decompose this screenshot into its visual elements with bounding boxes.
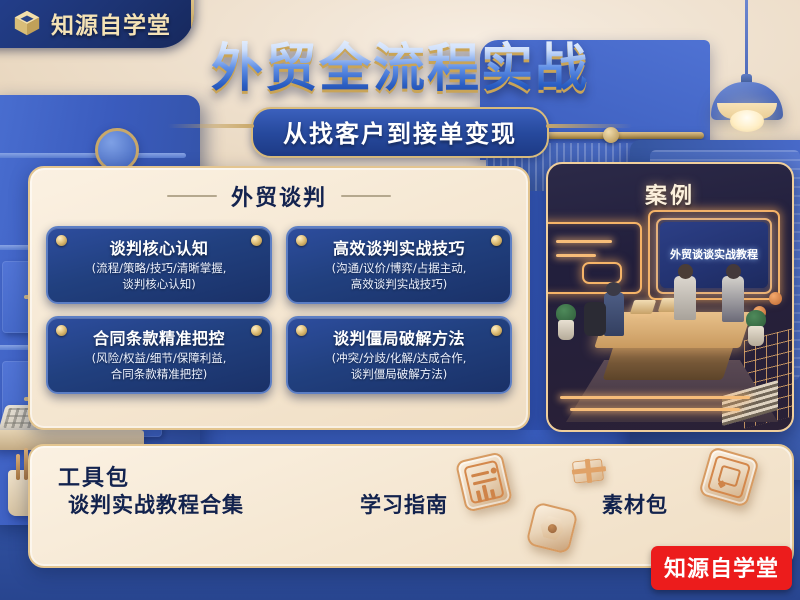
case-study-decor-ball	[769, 292, 782, 305]
card-subtitle-line1: (风险/权益/细节/保障利益,	[92, 351, 227, 365]
chat-square-icon	[698, 446, 760, 508]
case-study-desk-front	[602, 346, 733, 380]
card-subtitle-line2: 谈判核心认知)	[122, 277, 196, 291]
neon-line-icon	[556, 254, 596, 257]
card-title: 谈判核心认知	[56, 239, 262, 258]
brand-logo-text: 知源自学堂	[51, 6, 171, 40]
background-rail-knob	[603, 127, 619, 143]
case-study-person-head	[606, 282, 621, 296]
brand-logo-badge[interactable]: 知源自学堂	[0, 0, 194, 48]
case-study-person-seated	[604, 292, 624, 336]
background-brass-rail	[484, 132, 704, 139]
toolkit-header: 工具包	[58, 460, 130, 492]
cube-icon	[12, 8, 42, 38]
case-study-title: 案例	[548, 178, 792, 210]
card-title: 合同条款精准把控	[56, 329, 262, 348]
neon-line-icon	[556, 240, 612, 243]
card-subtitle-line2: 高效谈判实战技巧)	[351, 277, 448, 291]
negotiation-section-title: 外贸谈判	[231, 180, 327, 212]
chart-document-icon	[455, 451, 513, 512]
card-subtitle-line1: (流程/策略/技巧/清晰掌握,	[92, 261, 227, 275]
pendant-lamp-bulb	[730, 110, 764, 132]
negotiation-section-header: 外贸谈判	[30, 180, 528, 212]
hex-nut-icon	[525, 501, 578, 554]
card-subtitle-line1: (冲突/分歧/化解/达成合作,	[332, 351, 467, 365]
negotiation-card[interactable]: 谈判核心认知 (流程/策略/技巧/清晰掌握, 谈判核心认知)	[46, 226, 272, 304]
subtitle-deco-line-right	[546, 124, 632, 128]
neon-floor-line-icon	[570, 408, 740, 411]
negotiation-card-grid: 谈判核心认知 (流程/策略/技巧/清晰掌握, 谈判核心认知) 高效谈判实战技巧 …	[30, 212, 528, 394]
card-subtitle: (风险/权益/细节/保障利益, 合同条款精准把控)	[56, 351, 262, 382]
negotiation-card[interactable]: 合同条款精准把控 (风险/权益/细节/保障利益, 合同条款精准把控)	[46, 316, 272, 394]
case-study-panel[interactable]: 案例 外贸谈谈实战教程	[546, 162, 794, 432]
watermark-badge: 知源自学堂	[651, 546, 792, 590]
card-subtitle-line2: 谈判僵局破解方法)	[351, 367, 448, 381]
poster-root: 知源自学堂 外贸全流程实战 从找客户到接单变现 外贸谈判 谈判核心认知 (流程/…	[0, 0, 800, 600]
subtitle-deco-line-left	[168, 124, 254, 128]
toolkit-item[interactable]: 素材包	[602, 489, 668, 519]
card-subtitle-line2: 合同条款精准把控)	[111, 367, 208, 381]
laptop-icon	[630, 300, 657, 314]
toolkit-item[interactable]: 谈判实战教程合集	[68, 489, 244, 519]
card-title: 高效谈判实战技巧	[296, 239, 502, 258]
neon-box-icon	[582, 262, 622, 284]
plant-pot-icon	[558, 320, 574, 340]
card-subtitle: (冲突/分歧/化解/达成合作, 谈判僵局破解方法)	[296, 351, 502, 382]
case-study-screen-text: 外贸谈谈实战教程	[670, 248, 758, 262]
deco-line-right-icon	[341, 195, 391, 197]
card-subtitle: (沟通/议价/博弈/占据主动, 高效谈判实战技巧)	[296, 261, 502, 292]
plant-pot-icon	[748, 326, 764, 346]
card-title: 谈判僵局破解方法	[296, 329, 502, 348]
case-study-person-standing	[722, 276, 744, 322]
negotiation-card[interactable]: 高效谈判实战技巧 (沟通/议价/博弈/占据主动, 高效谈判实战技巧)	[286, 226, 512, 304]
case-study-chair	[584, 302, 606, 336]
negotiation-panel: 外贸谈判 谈判核心认知 (流程/策略/技巧/清晰掌握, 谈判核心认知) 高效谈判…	[28, 166, 530, 430]
toolkit-item[interactable]: 学习指南	[360, 489, 448, 519]
case-study-person-head	[678, 264, 693, 279]
gift-box-icon	[572, 458, 604, 483]
pendant-lamp-cord	[745, 0, 748, 78]
card-subtitle-line1: (沟通/议价/博弈/占据主动,	[332, 261, 467, 275]
case-study-person-presenter	[674, 276, 696, 320]
negotiation-card[interactable]: 谈判僵局破解方法 (冲突/分歧/化解/达成合作, 谈判僵局破解方法)	[286, 316, 512, 394]
case-study-person-head	[726, 264, 741, 279]
card-subtitle: (流程/策略/技巧/清晰掌握, 谈判核心认知)	[56, 261, 262, 292]
neon-floor-line-icon	[560, 396, 750, 399]
deco-line-left-icon	[167, 195, 217, 197]
